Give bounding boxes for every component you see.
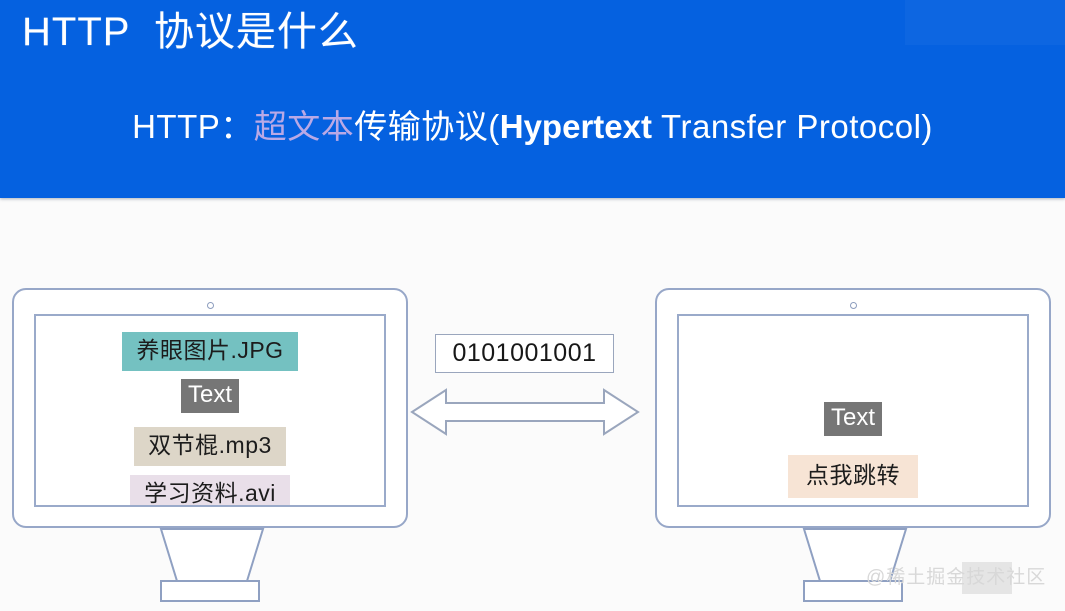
hyperlink-item[interactable]: 点我跳转	[788, 455, 918, 498]
list-item[interactable]: 学习资料.avi	[130, 475, 290, 507]
subtitle-suffix: Transfer Protocol)	[652, 108, 933, 145]
monitor-stand-base	[160, 580, 260, 602]
client-monitor: 养眼图片.JPG Text 双节棍.mp3 学习资料.avi	[12, 288, 408, 611]
list-item[interactable]: 养眼图片.JPG	[122, 332, 297, 371]
webcam-icon	[850, 302, 857, 309]
server-screen: Text 点我跳转	[677, 314, 1029, 507]
subtitle-bold-word: Hypertext	[500, 108, 652, 145]
list-item[interactable]: 双节棍.mp3	[134, 427, 286, 466]
page-title: HTTP 协议是什么	[22, 4, 359, 60]
client-screen: 养眼图片.JPG Text 双节棍.mp3 学习资料.avi	[34, 314, 386, 507]
binary-data-value: 0101001001	[452, 339, 596, 368]
watermark: @稀土掘金技术社区	[866, 566, 1046, 590]
subtitle-highlight: 超文本	[254, 108, 355, 145]
list-item[interactable]: Text	[824, 402, 882, 436]
subtitle-prefix: HTTP：	[132, 108, 254, 145]
double-arrow-horizontal-icon	[408, 386, 642, 438]
list-item[interactable]: Text	[181, 379, 239, 413]
subtitle-middle: 传输协议(	[354, 108, 500, 145]
binary-data-box: 0101001001	[435, 334, 614, 373]
subtitle: HTTP：超文本传输协议(Hypertext Transfer Protocol…	[0, 104, 1065, 150]
webcam-icon	[207, 302, 214, 309]
